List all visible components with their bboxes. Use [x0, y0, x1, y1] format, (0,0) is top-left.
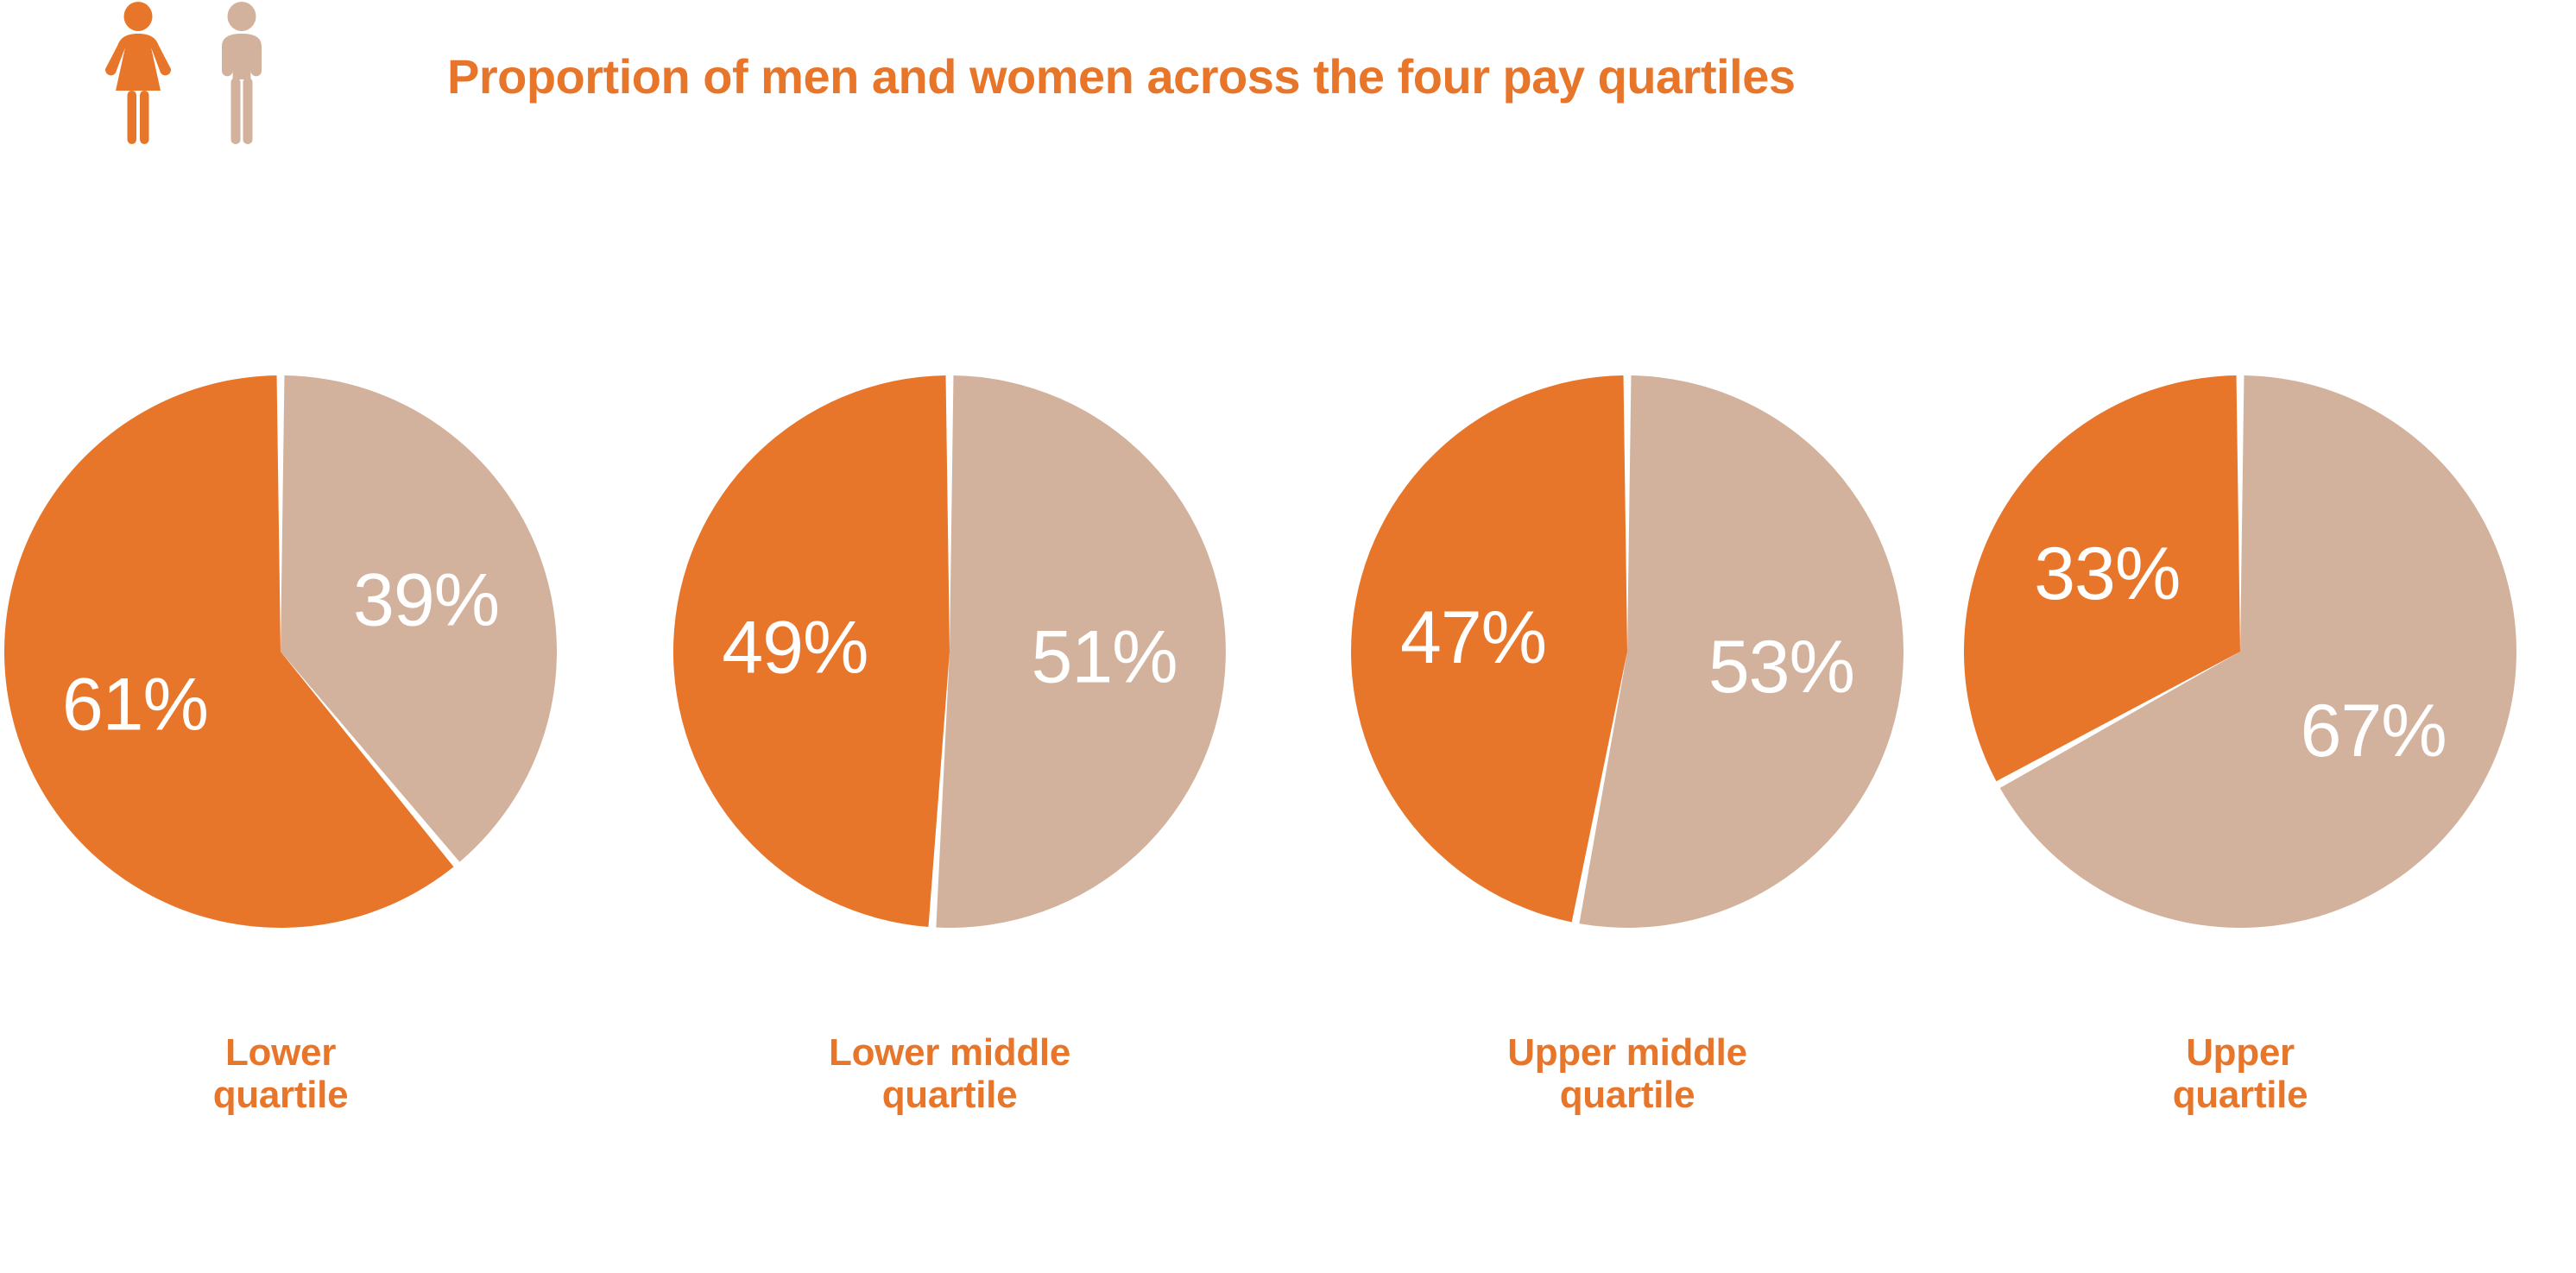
pie-chart-4: 67%33%Upperquartile — [1938, 0, 2542, 1273]
pie-label-3: Upper middlequartile — [1325, 1031, 1929, 1117]
pie-slice-value-women: 49% — [722, 606, 868, 689]
pie-label-2: Lower middlequartile — [647, 1031, 1252, 1117]
pie-chart-3: 53%47%Upper middlequartile — [1325, 0, 1929, 1273]
pie-label-line2: quartile — [0, 1074, 583, 1116]
pie-label-line1: Upper middle — [1325, 1031, 1929, 1074]
pie-slice-value-women: 61% — [62, 664, 208, 747]
pie-label-line1: Lower middle — [647, 1031, 1252, 1074]
pie-slice-value-men: 39% — [353, 558, 499, 641]
pie-label-line1: Lower — [0, 1031, 583, 1074]
pie-label-line2: quartile — [1325, 1074, 1929, 1116]
pie-label-4: Upperquartile — [1938, 1031, 2542, 1117]
pie-slice-value-women: 47% — [1400, 596, 1546, 679]
pie-slice-value-men: 53% — [1708, 626, 1854, 709]
pie-slice-value-men: 67% — [2301, 690, 2447, 772]
pie-label-line1: Upper — [1938, 1031, 2542, 1074]
pie-slice-value-men: 51% — [1032, 616, 1178, 699]
pie-label-1: Lowerquartile — [0, 1031, 583, 1117]
pie-chart-1: 39%61%Lowerquartile — [0, 0, 583, 1273]
pie-chart-2: 51%49%Lower middlequartile — [647, 0, 1252, 1273]
pie-label-line2: quartile — [647, 1074, 1252, 1116]
pie-label-line2: quartile — [1938, 1074, 2542, 1116]
pie-slice-value-women: 33% — [2034, 533, 2180, 615]
pie-charts-row: 39%61%Lowerquartile51%49%Lower middlequa… — [0, 0, 2576, 1273]
